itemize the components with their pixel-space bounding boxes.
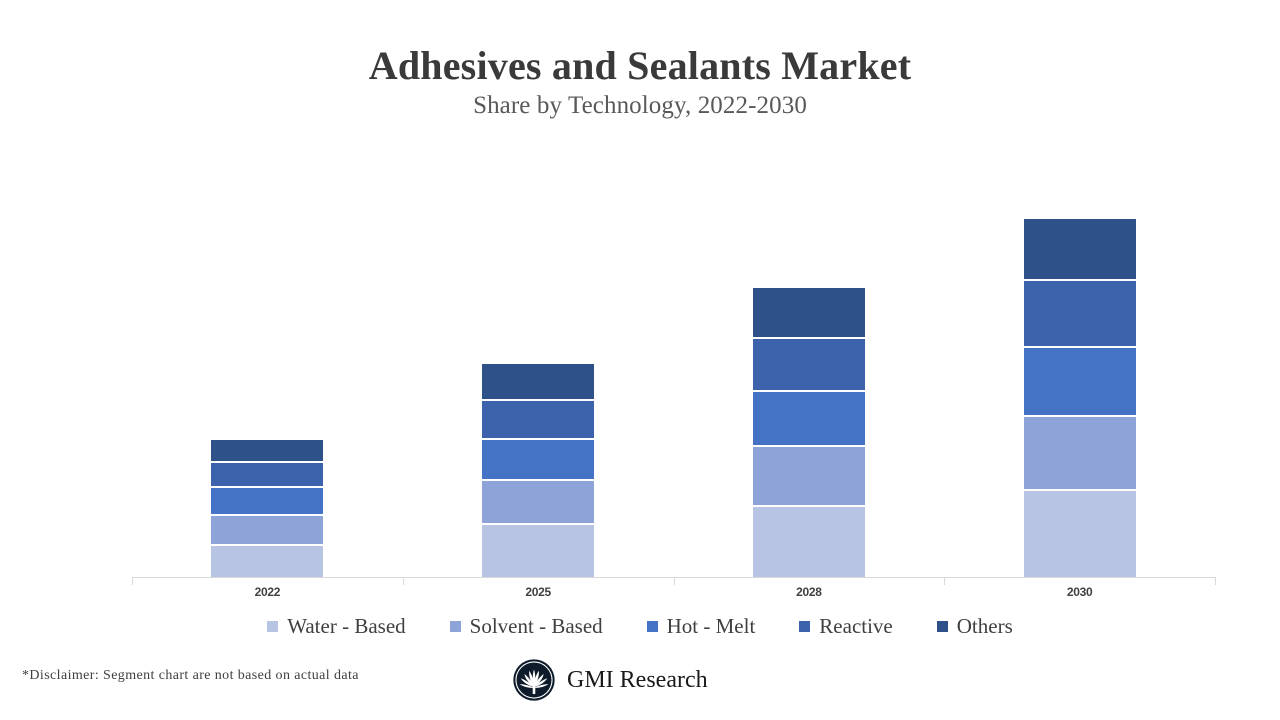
- legend-label: Water - Based: [287, 614, 405, 639]
- legend-item-water-based[interactable]: Water - Based: [267, 614, 405, 639]
- legend-swatch-icon: [799, 621, 810, 632]
- legend-label: Reactive: [819, 614, 892, 639]
- x-axis-tick: [674, 577, 675, 585]
- legend-swatch-icon: [267, 621, 278, 632]
- legend-label: Hot - Melt: [667, 614, 756, 639]
- bar-segment[interactable]: [211, 440, 323, 463]
- chart-legend: Water - BasedSolvent - BasedHot - MeltRe…: [0, 614, 1280, 639]
- legend-item-reactive[interactable]: Reactive: [799, 614, 892, 639]
- bar-segment[interactable]: [753, 447, 865, 507]
- page-title: Adhesives and Sealants Market: [0, 42, 1280, 89]
- x-axis-tick: [132, 577, 133, 585]
- bar-segment[interactable]: [753, 507, 865, 578]
- x-axis-label-2022: 2022: [197, 585, 337, 599]
- bar-segment[interactable]: [211, 546, 323, 578]
- legend-swatch-icon: [647, 621, 658, 632]
- bar-group-2030[interactable]: [1024, 219, 1136, 578]
- bar-group-2022[interactable]: [211, 440, 323, 578]
- bar-segment[interactable]: [1024, 219, 1136, 281]
- bar-group-2025[interactable]: [482, 364, 594, 578]
- bar-segment[interactable]: [753, 392, 865, 447]
- legend-swatch-icon: [937, 621, 948, 632]
- legend-label: Others: [957, 614, 1013, 639]
- bar-segment[interactable]: [211, 463, 323, 488]
- brand-lockup: GMI Research: [512, 658, 708, 702]
- disclaimer-text: *Disclaimer: Segment chart are not based…: [22, 668, 359, 684]
- bar-segment[interactable]: [482, 401, 594, 440]
- bar-segment[interactable]: [1024, 281, 1136, 348]
- chart-subtitle: Share by Technology, 2022-2030: [0, 92, 1280, 120]
- bar-segment[interactable]: [482, 364, 594, 401]
- bar-segment[interactable]: [211, 516, 323, 546]
- legend-swatch-icon: [450, 621, 461, 632]
- brand-name: GMI Research: [567, 667, 708, 694]
- x-axis-tick: [403, 577, 404, 585]
- palm-fan-circle-logo-icon: [512, 658, 556, 702]
- bar-group-2028[interactable]: [753, 288, 865, 578]
- x-axis-tick: [1215, 577, 1216, 585]
- x-axis-label-2025: 2025: [468, 585, 608, 599]
- bar-segment[interactable]: [482, 481, 594, 525]
- x-axis-label-2030: 2030: [1010, 585, 1150, 599]
- bar-segment[interactable]: [753, 339, 865, 392]
- bar-segment[interactable]: [1024, 348, 1136, 417]
- bar-segment[interactable]: [211, 488, 323, 516]
- chart-plot-area: [132, 140, 1215, 578]
- bar-segment[interactable]: [1024, 491, 1136, 578]
- legend-item-hot-melt[interactable]: Hot - Melt: [647, 614, 756, 639]
- legend-label: Solvent - Based: [470, 614, 603, 639]
- bar-segment[interactable]: [1024, 417, 1136, 491]
- legend-item-solvent-based[interactable]: Solvent - Based: [450, 614, 603, 639]
- bar-segment[interactable]: [482, 440, 594, 481]
- bar-segment[interactable]: [753, 288, 865, 339]
- legend-item-others[interactable]: Others: [937, 614, 1013, 639]
- x-axis-tick: [944, 577, 945, 585]
- x-axis-label-2028: 2028: [739, 585, 879, 599]
- bar-segment[interactable]: [482, 525, 594, 578]
